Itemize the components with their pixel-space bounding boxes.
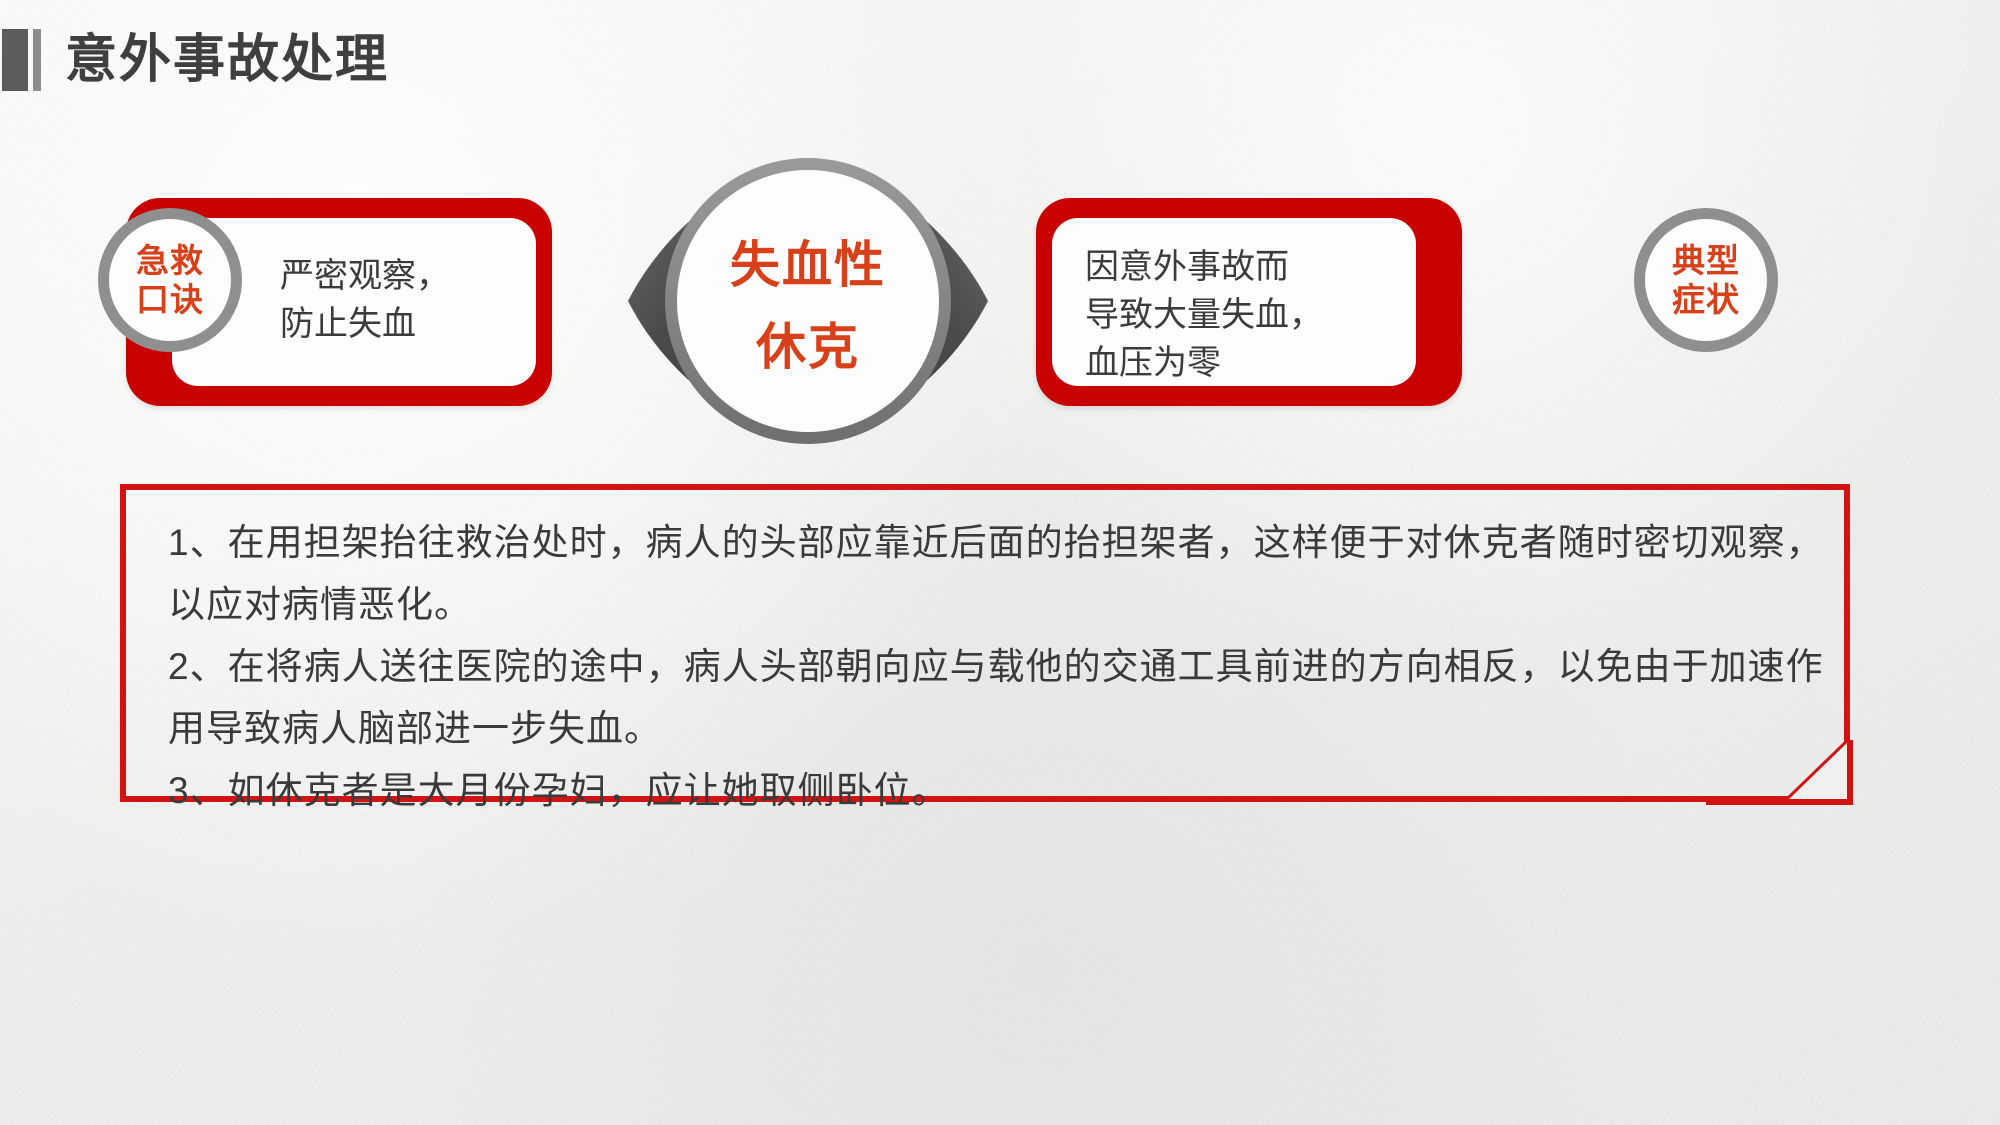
badge-right-label: 典型 症状 <box>1672 241 1740 319</box>
title-accent-bar-thick <box>2 29 28 91</box>
note-item: 3、如休克者是大月份孕妇，应让她取侧卧位。 <box>168 760 1828 822</box>
left-card-text: 严密观察， 防止失血 <box>280 252 580 348</box>
right-card-text: 因意外事故而 导致大量失血， 血压为零 <box>1085 243 1415 387</box>
slide-canvas: 意外事故处理 严密观察， 防止失血 急救 口诀 因意外事故而 导致大量失血， 血… <box>0 0 2000 1125</box>
note-box-text: 1、在用担架抬往救治处时，病人的头部应靠近后面的抬担架者，这样便于对休克者随时密… <box>168 512 1828 822</box>
note-item: 2、在将病人送往医院的途中，病人头部朝向应与载他的交通工具前进的方向相反，以免由… <box>168 636 1828 760</box>
note-item: 1、在用担架抬往救治处时，病人的头部应靠近后面的抬担架者，这样便于对休克者随时密… <box>168 512 1828 636</box>
title-accent-bar-thin <box>33 29 41 91</box>
badge-left-label: 急救 口诀 <box>136 241 204 319</box>
page-title-block: 意外事故处理 <box>0 26 389 94</box>
badge-first-aid-formula: 急救 口诀 <box>98 208 242 352</box>
page-title: 意外事故处理 <box>65 29 389 91</box>
badge-typical-symptoms: 典型 症状 <box>1634 208 1778 352</box>
center-emblem-label: 失血性 休克 <box>608 224 1008 388</box>
